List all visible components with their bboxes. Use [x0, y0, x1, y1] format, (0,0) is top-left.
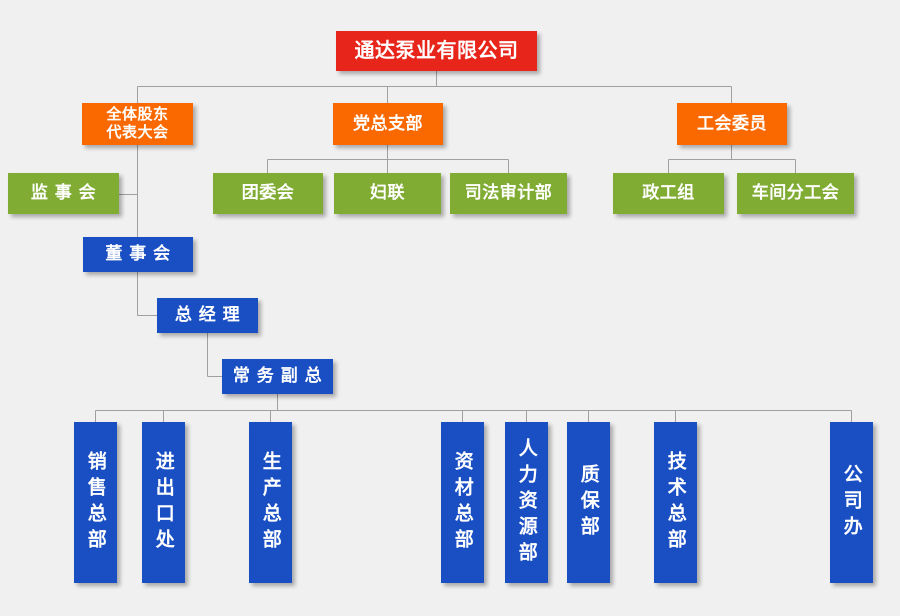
- node-shareholders-label: 全体股东 代表大会: [106, 106, 168, 141]
- node-supervisory-board-label: 监 事 会: [31, 183, 96, 203]
- node-dept-production-label: 生产总部: [259, 451, 281, 555]
- node-dept-sales-label: 销售总部: [84, 451, 106, 555]
- node-shareholders[interactable]: 全体股东 代表大会: [82, 103, 193, 145]
- node-union-committee[interactable]: 工会委员: [677, 103, 787, 145]
- node-youth-league[interactable]: 团委会: [213, 173, 323, 214]
- node-dept-production[interactable]: 生产总部: [249, 422, 292, 583]
- node-dept-office-label: 公司办: [840, 464, 862, 542]
- node-dept-hr[interactable]: 人力资源部: [505, 422, 548, 583]
- node-executive-vice[interactable]: 常 务 副 总: [222, 359, 333, 394]
- node-dept-hr-label: 人力资源部: [515, 438, 537, 568]
- node-womens-federation[interactable]: 妇联: [334, 173, 441, 214]
- node-dept-quality[interactable]: 质保部: [567, 422, 610, 583]
- node-general-manager[interactable]: 总 经 理: [157, 298, 258, 333]
- node-dept-technology[interactable]: 技术总部: [654, 422, 697, 583]
- node-party-branch-label: 党总支部: [353, 114, 423, 134]
- node-dept-technology-label: 技术总部: [664, 451, 686, 555]
- node-judicial-audit[interactable]: 司法审计部: [450, 173, 567, 214]
- node-workshop-union[interactable]: 车间分工会: [737, 173, 854, 214]
- node-dept-import-export[interactable]: 进出口处: [142, 422, 185, 583]
- node-dept-materials-label: 资材总部: [451, 451, 473, 555]
- node-board-of-directors[interactable]: 董 事 会: [83, 237, 193, 272]
- node-general-manager-label: 总 经 理: [175, 305, 240, 325]
- node-womens-federation-label: 妇联: [370, 183, 405, 203]
- node-workshop-union-label: 车间分工会: [752, 183, 840, 203]
- node-political-work[interactable]: 政工组: [613, 173, 724, 214]
- node-youth-league-label: 团委会: [242, 183, 295, 203]
- node-company[interactable]: 通达泵业有限公司: [336, 31, 537, 71]
- node-political-work-label: 政工组: [642, 183, 695, 203]
- node-dept-import-export-label: 进出口处: [152, 451, 174, 555]
- node-supervisory-board[interactable]: 监 事 会: [8, 173, 119, 214]
- node-party-branch[interactable]: 党总支部: [333, 103, 443, 145]
- node-judicial-audit-label: 司法审计部: [465, 183, 553, 203]
- node-executive-vice-label: 常 务 副 总: [233, 366, 322, 386]
- org-chart: 通达泵业有限公司 全体股东 代表大会 党总支部 工会委员 监 事 会 团委会 妇…: [0, 0, 900, 616]
- node-union-committee-label: 工会委员: [697, 114, 767, 134]
- node-dept-office[interactable]: 公司办: [830, 422, 873, 583]
- node-dept-quality-label: 质保部: [577, 464, 599, 542]
- node-company-label: 通达泵业有限公司: [355, 39, 519, 63]
- node-dept-materials[interactable]: 资材总部: [441, 422, 484, 583]
- node-dept-sales[interactable]: 销售总部: [74, 422, 117, 583]
- node-board-of-directors-label: 董 事 会: [105, 244, 170, 264]
